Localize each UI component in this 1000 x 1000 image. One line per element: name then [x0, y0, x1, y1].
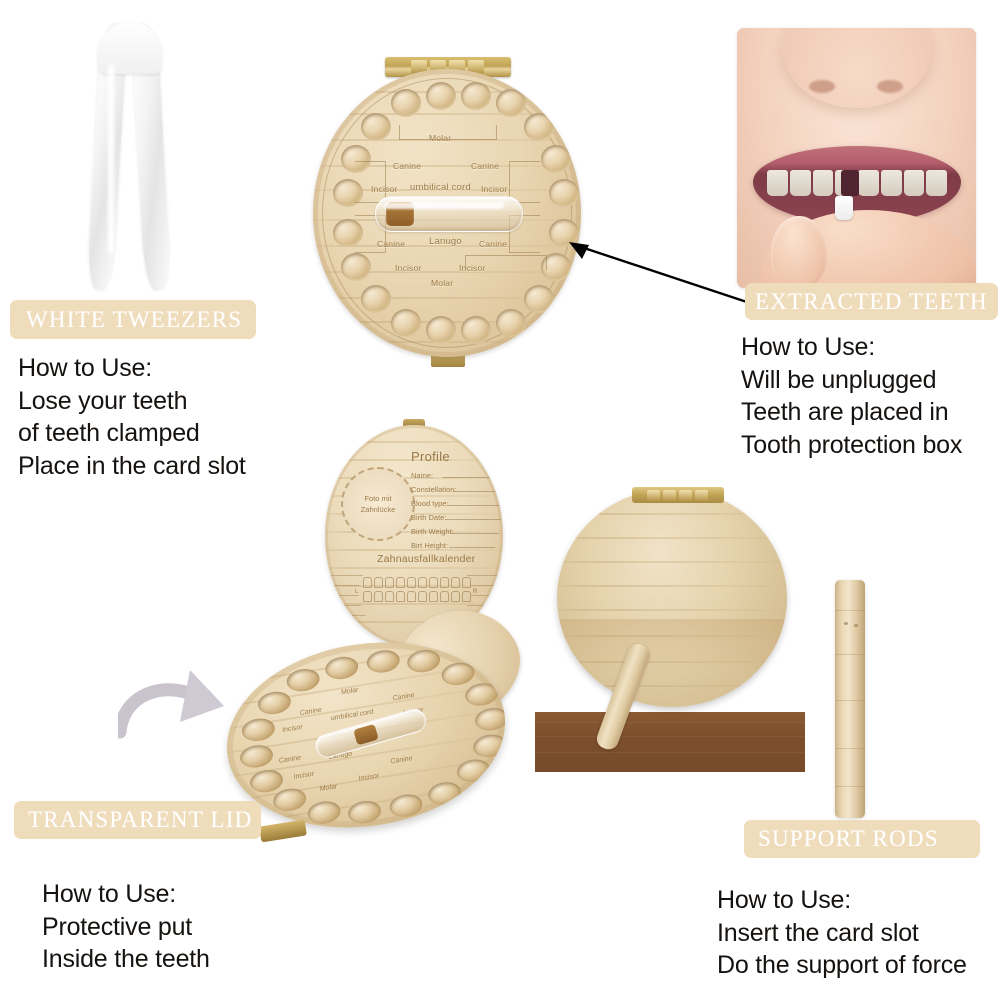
tooth-slot[interactable] [361, 113, 391, 141]
engraving-incisor-bottom-right: Incisor [459, 263, 485, 273]
badge-support-rods: SUPPORT RODS [744, 820, 980, 858]
vial-cork [386, 202, 414, 226]
vial-cork [353, 724, 379, 745]
tooth-slot[interactable] [496, 89, 526, 117]
tooth-slot[interactable] [524, 113, 554, 141]
curved-arrow-icon [118, 660, 238, 770]
photo-nostril-left [809, 80, 835, 93]
tooth-slot[interactable] [361, 285, 391, 313]
tooth-box-face: Molar Canine Canine Incisor Incisor umbi… [313, 69, 581, 357]
glass-vial[interactable] [375, 196, 523, 232]
engraved-bracket [509, 161, 540, 203]
profile-field-constellation: Constellation: [411, 485, 456, 494]
badge-white-tweezers: WHITE TWEEZERS [10, 300, 256, 339]
tooth-slot[interactable] [391, 309, 421, 337]
tooth-slot[interactable] [426, 316, 456, 344]
tooth-slot[interactable] [541, 145, 571, 173]
tooth-slot[interactable] [461, 82, 491, 110]
engraving-incisor-top-left: Incisor [371, 184, 397, 194]
white-tweezers-image [78, 24, 186, 290]
profile-field-birth-weight: Birth Weight: [411, 527, 454, 536]
howto-transparent-lid: How to Use: Protective put Inside the te… [42, 878, 210, 976]
engraved-bracket [355, 161, 386, 203]
profile-title: Profile [411, 449, 450, 464]
engraving-canine-bottom-right: Canine [479, 239, 507, 249]
open-box-angled-image: Molar Canine Canine Incisor Incisor umbi… [222, 620, 517, 835]
photo-circle-label-line1: Foto mit [364, 494, 391, 503]
profile-field-birth-height: Birt Height: [411, 541, 448, 550]
pointer-arrow-to-extracted-teeth [565, 238, 770, 314]
calendar-title: Zahnausfallkalender [377, 553, 475, 565]
extracted-teeth-photo [737, 28, 976, 288]
howto-extracted-teeth: How to Use: Will be unplugged Teeth are … [741, 331, 962, 461]
tooth-slot[interactable] [524, 285, 554, 313]
tooth-slot[interactable] [496, 309, 526, 337]
tooth-slot[interactable] [426, 82, 456, 110]
support-rod-image [835, 580, 865, 818]
tooth-box-main-image: Molar Canine Canine Incisor Incisor umbi… [305, 55, 590, 365]
engraving-canine-top-right: Canine [471, 161, 499, 171]
photo-missing-tooth-gap [841, 170, 859, 196]
tooth-slot[interactable] [341, 253, 371, 281]
wood-tone-band [557, 619, 787, 673]
engraving-incisor-bottom-left: Incisor [395, 263, 421, 273]
tooth-slot[interactable] [461, 316, 491, 344]
howto-support-rods: How to Use: Insert the card slot Do the … [717, 884, 967, 982]
engraving-umbilical-cord: umbilical cord [410, 182, 471, 193]
infographic-canvas: Molar Canine Canine Incisor Incisor umbi… [0, 0, 1000, 1000]
photo-thumb [771, 216, 827, 288]
wooden-table-surface [535, 712, 805, 772]
tooth-loss-chart: L R [363, 577, 471, 613]
photo-circle-label-line2: Zahnlücke [361, 505, 396, 514]
chart-label-left: L [355, 589, 358, 595]
chart-label-right: R [473, 589, 477, 595]
engraving-lanugo: Lanugo [429, 236, 462, 247]
tooth-slot[interactable] [391, 89, 421, 117]
closed-box-back [557, 489, 787, 707]
engraving-canine-bottom-left: Canine [377, 239, 405, 249]
badge-extracted-teeth: EXTRACTED TEETH [745, 283, 998, 320]
photo-nostril-right [877, 80, 903, 93]
badge-label: WHITE TWEEZERS [26, 307, 242, 333]
photo-placeholder-circle: Foto mit Zahnlücke [341, 467, 415, 541]
badge-label: TRANSPARENT LID [28, 807, 252, 833]
engraving-incisor-top-right: Incisor [481, 184, 507, 194]
profile-field-name: Name: [411, 471, 433, 480]
engraving-molar-top: Molar [429, 133, 451, 143]
profile-field-birth-date: Birth Date: [411, 513, 446, 522]
badge-label: EXTRACTED TEETH [755, 289, 988, 315]
tweezer-highlight [108, 64, 114, 254]
howto-white-tweezers: How to Use: Lose your teeth of teeth cla… [18, 352, 246, 482]
profile-field-blood-type: Blood type: [411, 499, 449, 508]
tooth-slot[interactable] [549, 179, 579, 207]
engraving-canine-top-left: Canine [393, 161, 421, 171]
photo-extracted-tooth [835, 196, 853, 220]
badge-label: SUPPORT RODS [758, 826, 939, 852]
wood-grain [557, 489, 787, 707]
engraving-molar-bottom: Molar [431, 278, 453, 288]
badge-transparent-lid: TRANSPARENT LID [14, 801, 261, 839]
box-hinge [632, 487, 724, 503]
box-on-support-rod-image [535, 475, 820, 780]
